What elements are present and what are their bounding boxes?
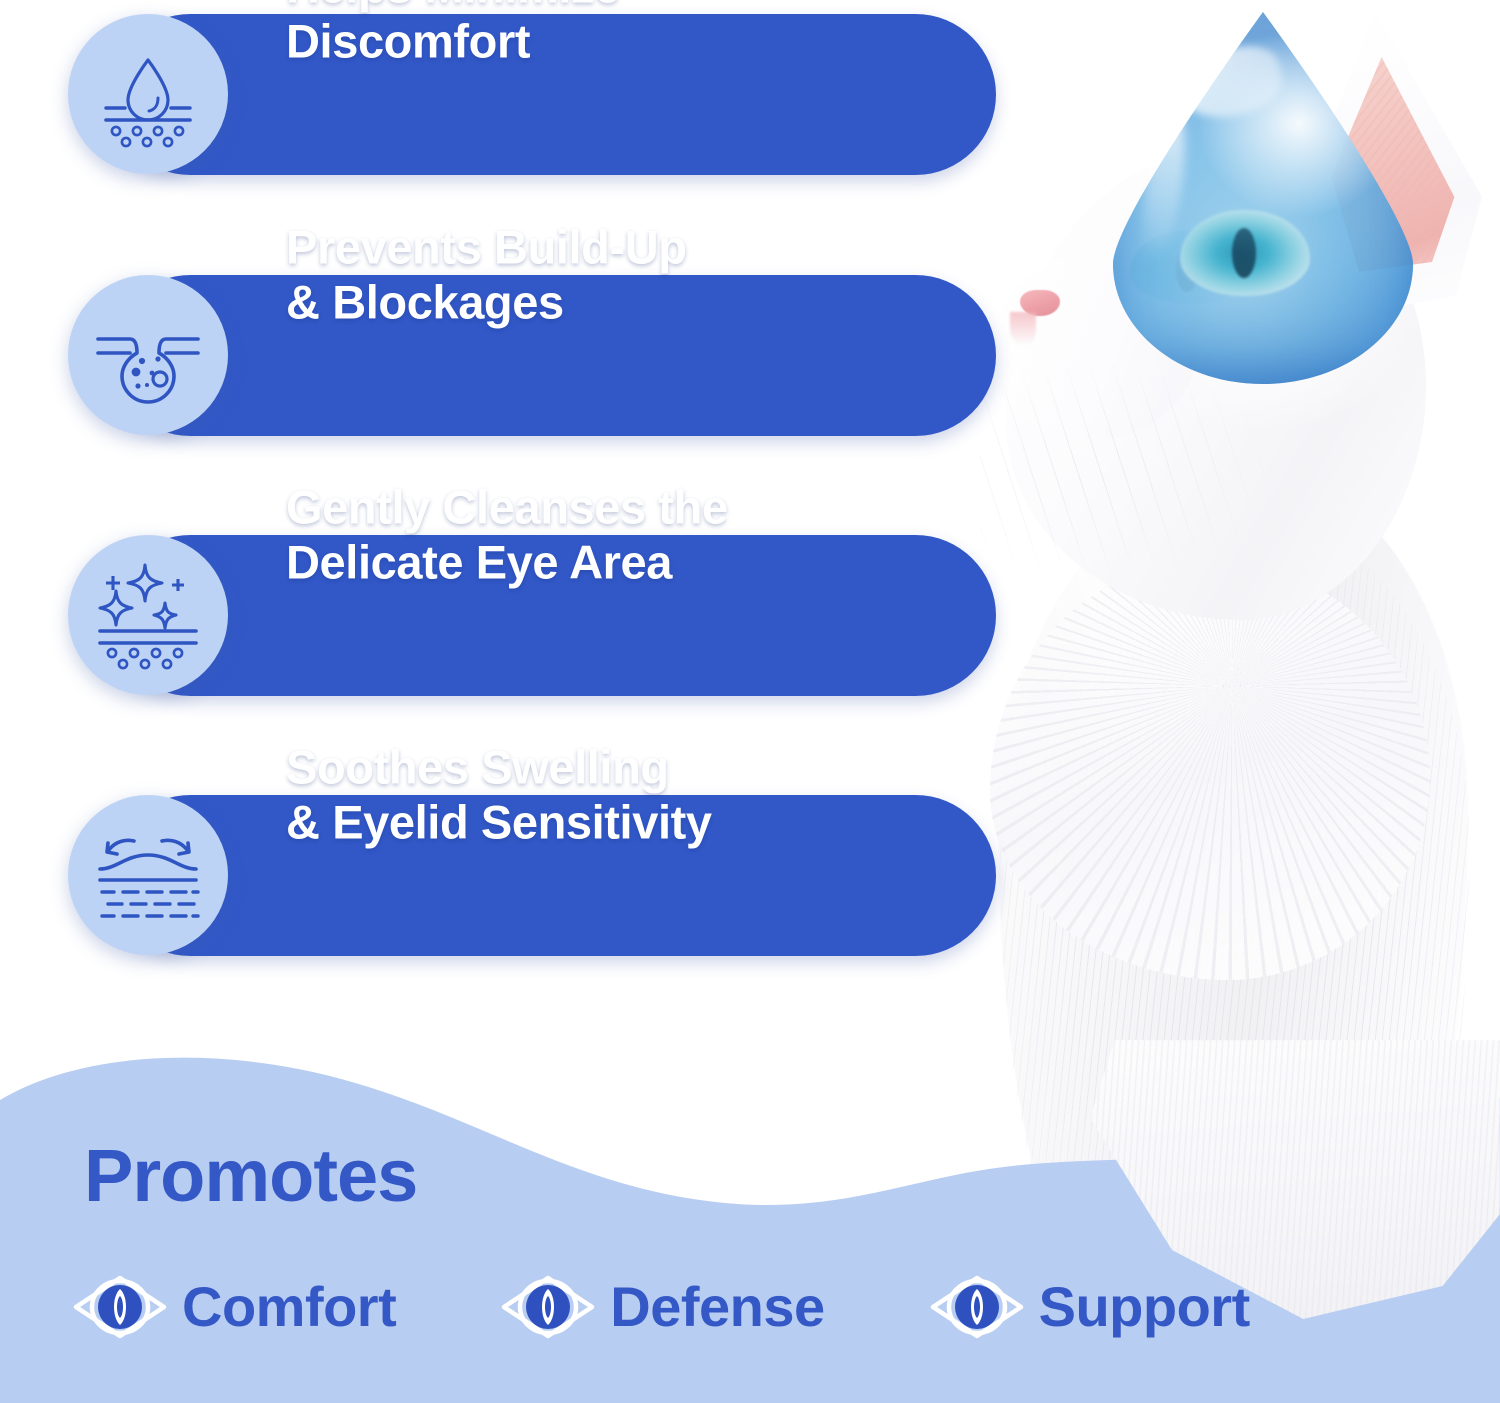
- eye-icon: [500, 1272, 596, 1342]
- eye-icon: [929, 1272, 1025, 1342]
- promotes-item-list: Comfort Defense Support: [72, 1272, 1250, 1342]
- promote-item-label: Defense: [610, 1279, 824, 1335]
- clogged-pore-icon: [68, 275, 228, 435]
- cat-neck-ruff: [990, 560, 1430, 980]
- swelling-reduction-icon: [68, 795, 228, 955]
- cat-nose-bridge: [1010, 312, 1036, 346]
- benefit-label: Soothes Swelling & Eyelid Sensitivity: [286, 740, 946, 849]
- promote-item-defense[interactable]: Defense: [500, 1272, 824, 1342]
- infographic-canvas: Helps Minimize Discomfort: [0, 0, 1500, 1403]
- promote-item-support[interactable]: Support: [929, 1272, 1250, 1342]
- droplet-on-skin-icon: [68, 14, 228, 174]
- benefit-label: Gently Cleanses the Delicate Eye Area: [286, 480, 946, 589]
- benefit-label: Helps Minimize Discomfort: [286, 0, 946, 69]
- promote-item-comfort[interactable]: Comfort: [72, 1272, 396, 1342]
- cat-nose: [1020, 290, 1060, 316]
- promotes-heading: Promotes: [84, 1133, 417, 1218]
- promote-item-label: Comfort: [182, 1279, 396, 1335]
- cat-whiskers: [980, 360, 1310, 600]
- promote-item-label: Support: [1039, 1279, 1250, 1335]
- eye-icon: [72, 1272, 168, 1342]
- sparkles-clean-skin-icon: [68, 535, 228, 695]
- benefit-label: Prevents Build-Up & Blockages: [286, 220, 946, 329]
